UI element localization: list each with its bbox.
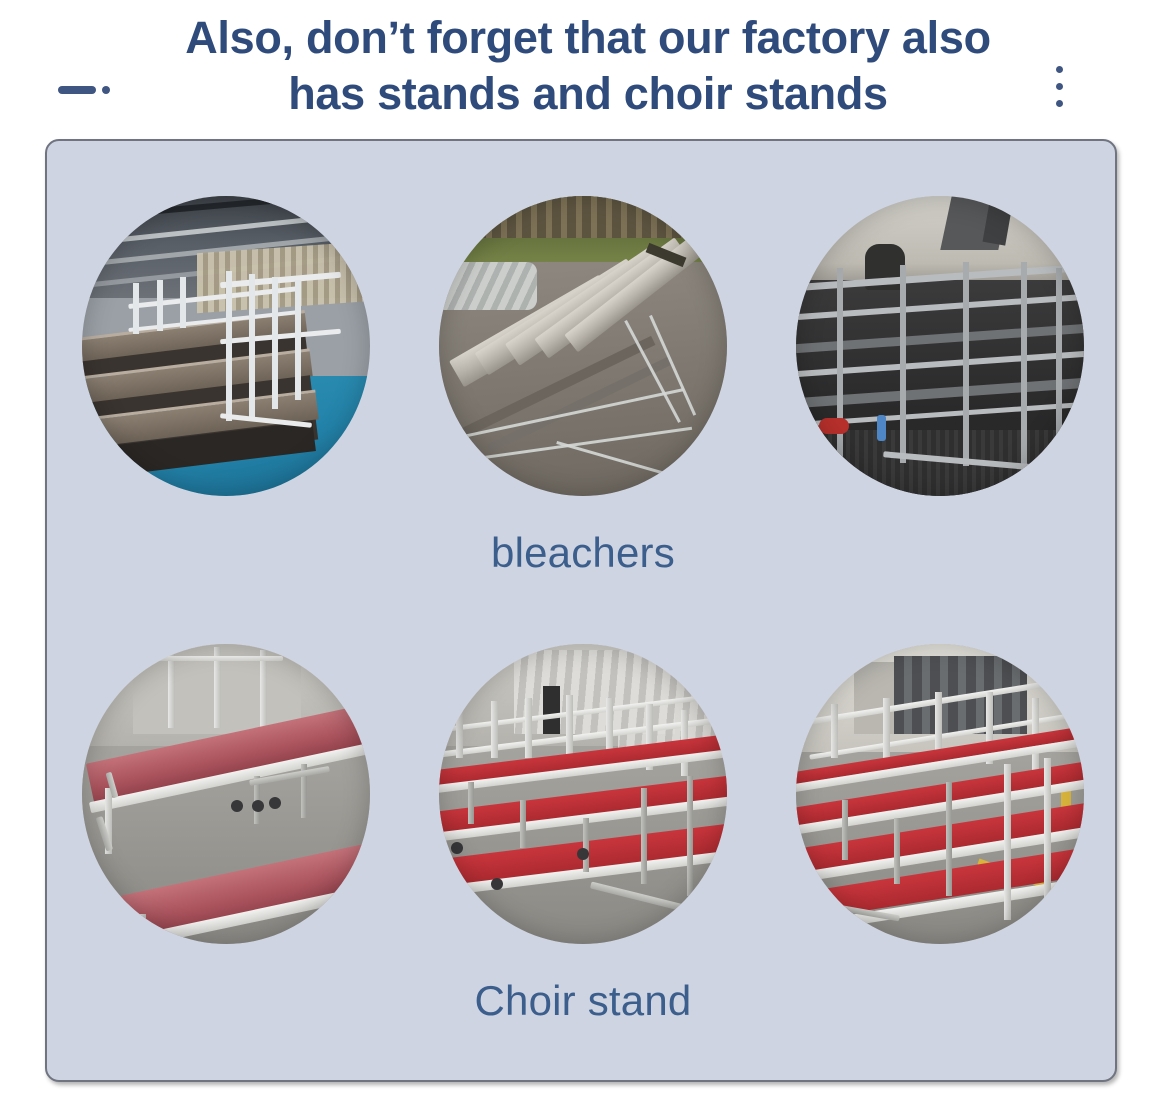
dash-icon-dot <box>102 86 110 94</box>
thumbnail-choir-riser-four-tier-red[interactable] <box>796 644 1084 944</box>
section-bleachers: bleachers <box>47 181 1117 631</box>
thumbnail-row-choir <box>47 629 1117 959</box>
section-label-bleachers: bleachers <box>47 529 1117 577</box>
thumbnail-row-bleachers <box>47 181 1117 511</box>
dash-dot-icon[interactable] <box>58 81 116 99</box>
kebab-dot-1 <box>1056 66 1063 73</box>
thumbnail-indoor-bleachers-blue-floor[interactable] <box>82 196 370 496</box>
section-label-choir-stand: Choir stand <box>47 977 1117 1025</box>
thumbnail-dark-indoor-bleachers-assembly[interactable] <box>796 196 1084 496</box>
kebab-dot-3 <box>1056 100 1063 107</box>
thumbnail-choir-riser-three-tier-red[interactable] <box>439 644 727 944</box>
page-title: Also, don’t forget that our factory also… <box>118 10 1058 122</box>
content-card: bleachers <box>45 139 1117 1082</box>
page-root: Also, don’t forget that our factory also… <box>0 0 1170 1094</box>
kebab-menu-icon[interactable] <box>1053 66 1067 112</box>
kebab-dot-2 <box>1056 83 1063 90</box>
thumbnail-outdoor-stacked-bleacher-planks[interactable] <box>439 196 727 496</box>
page-header: Also, don’t forget that our factory also… <box>0 0 1170 133</box>
thumbnail-choir-riser-two-tier-red[interactable] <box>82 644 370 944</box>
dash-icon-bar <box>58 86 96 94</box>
section-choir-stand: Choir stand <box>47 629 1117 1069</box>
